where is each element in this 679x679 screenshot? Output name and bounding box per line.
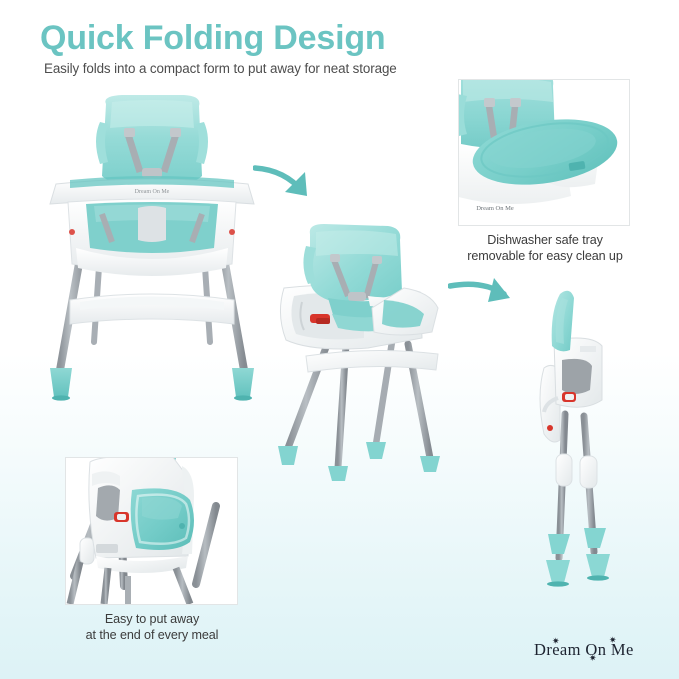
chair-footrest	[306, 350, 438, 372]
tray-watermark: Dream On Me	[135, 189, 170, 195]
caption-line-1: Easy to put away	[57, 611, 247, 627]
chair-feet	[278, 442, 440, 481]
chair-footrest	[70, 294, 234, 324]
chair-folded-body	[540, 338, 602, 442]
inset-watermark: Dream On Me	[476, 205, 514, 212]
caption-line-2: removable for easy clean up	[449, 248, 641, 264]
inset-panel-dishwasher-safe-tray: Dream On Me	[458, 79, 630, 226]
product-image-high-chair-assembled: Dream On Me	[42, 92, 262, 417]
chair-seat-base	[68, 199, 236, 276]
star-icon: ✷	[552, 637, 560, 646]
arrow-step-1-to-2-icon	[253, 158, 325, 208]
product-image-high-chair-partially-folded	[272, 222, 472, 482]
caption-dishwasher-safe-tray: Dishwasher safe tray removable for easy …	[449, 232, 641, 264]
page-subtitle: Easily folds into a compact form to put …	[44, 61, 640, 76]
star-icon: ✷	[609, 636, 617, 645]
inset-image-folded-chair	[66, 458, 237, 604]
caption-line-2: at the end of every meal	[57, 627, 247, 643]
header: Quick Folding Design Easily folds into a…	[40, 20, 640, 76]
brand-logo-text: Dream On Me	[534, 640, 634, 660]
arrow-step-2-to-3-icon	[448, 272, 524, 316]
chair-seat-back	[303, 224, 402, 301]
brand-logo: Dream On Me ✷ ✷ ✷	[534, 637, 664, 663]
caption-easy-to-put-away: Easy to put away at the end of every mea…	[57, 611, 247, 643]
inset-image-tray: Dream On Me	[459, 80, 629, 225]
inset-panel-easy-to-put-away	[65, 457, 238, 605]
star-icon: ✷	[589, 654, 597, 663]
promo-infographic: Quick Folding Design Easily folds into a…	[0, 0, 679, 679]
caption-line-1: Dishwasher safe tray	[449, 232, 641, 248]
page-title: Quick Folding Design	[40, 20, 640, 57]
product-image-high-chair-fully-folded	[518, 288, 648, 600]
chair-feet	[50, 368, 254, 401]
